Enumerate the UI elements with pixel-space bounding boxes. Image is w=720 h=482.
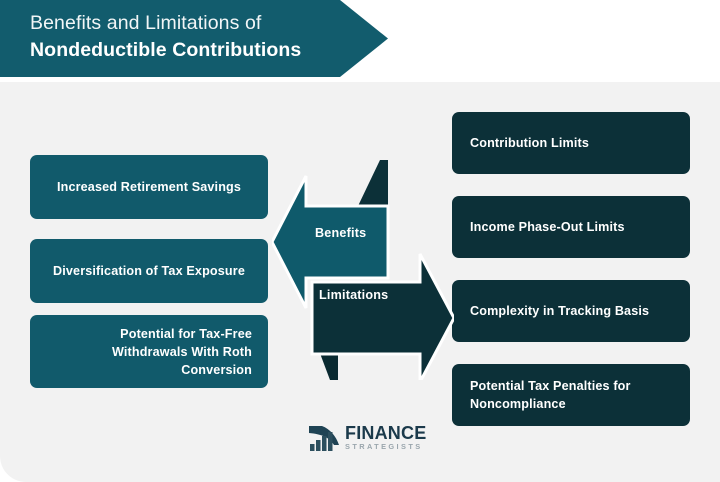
limitation-card-4-label: Potential Tax Penalties for Noncomplianc… [470, 377, 672, 413]
limitation-card-3[interactable]: Complexity in Tracking Basis [452, 280, 690, 342]
limitation-card-2-label: Income Phase-Out Limits [470, 218, 625, 236]
benefit-card-3-label: Potential for Tax-Free Withdrawals With … [46, 325, 252, 379]
brand-wordmark: FINANCE STRATEGISTS [345, 425, 426, 451]
header-title-block: Benefits and Limitations of Nondeductibl… [30, 10, 350, 64]
benefits-arrow-label: Benefits [315, 226, 366, 240]
benefit-card-1-label: Increased Retirement Savings [57, 178, 241, 196]
infographic-canvas: Benefits and Limitations of Nondeductibl… [0, 0, 720, 482]
header-title-line-2: Nondeductible Contributions [30, 37, 350, 64]
brand-name-primary: FINANCE [345, 425, 426, 442]
benefits-arrow-tail-icon [358, 160, 388, 206]
brand-logo: FINANCE STRATEGISTS [308, 421, 438, 455]
limitation-card-3-label: Complexity in Tracking Basis [470, 302, 649, 320]
content-panel-top-right-filler [560, 82, 720, 86]
benefit-card-2[interactable]: Diversification of Tax Exposure [30, 239, 268, 303]
double-arrow-svg [272, 160, 454, 380]
benefit-card-3[interactable]: Potential for Tax-Free Withdrawals With … [30, 315, 268, 388]
chart-arc-bars-icon [308, 423, 342, 453]
header-title-line-1: Benefits and Limitations of [30, 10, 350, 37]
brand-name-secondary: STRATEGISTS [345, 442, 426, 451]
limitation-card-1-label: Contribution Limits [470, 134, 589, 152]
limitation-card-1[interactable]: Contribution Limits [452, 112, 690, 174]
limitation-card-2[interactable]: Income Phase-Out Limits [452, 196, 690, 258]
benefit-card-1[interactable]: Increased Retirement Savings [30, 155, 268, 219]
benefit-card-2-label: Diversification of Tax Exposure [53, 262, 245, 280]
limitations-arrow-label: Limitations [319, 288, 388, 302]
center-arrows-group: Benefits Limitations [272, 160, 454, 380]
limitation-card-4[interactable]: Potential Tax Penalties for Noncomplianc… [452, 364, 690, 426]
